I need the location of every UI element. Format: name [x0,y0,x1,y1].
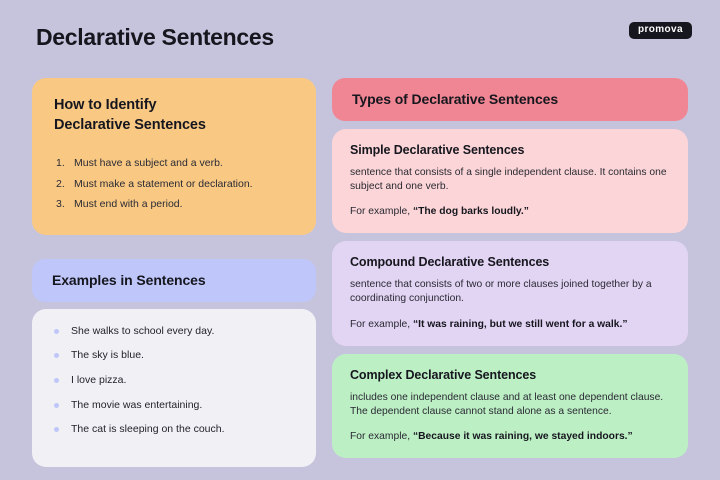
list-item-label: She walks to school every day. [71,325,214,337]
complex-declarative-heading: Complex Declarative Sentences [350,367,670,384]
how-to-identify-heading-line1: How to Identify [54,97,156,113]
examples-list: She walks to school every day. The sky i… [52,325,296,436]
complex-declarative-card: Complex Declarative Sentences includes o… [332,354,688,458]
compound-declarative-card: Compound Declarative Sentences sentence … [332,241,688,345]
compound-declarative-example: For example, “It was raining, but we sti… [350,318,670,332]
list-item-label: The cat is sleeping on the couch. [71,423,225,435]
list-item-label: I love pizza. [71,374,126,386]
promova-logo: promova [629,22,692,39]
bullet-dot-icon [54,378,59,383]
complex-declarative-example: For example, “Because it was raining, we… [350,430,670,444]
example-prefix: For example, [350,206,413,217]
simple-declarative-heading: Simple Declarative Sentences [350,142,670,159]
example-quote: “It was raining, but we still went for a… [413,319,628,330]
types-of-declarative-sentences-header: Types of Declarative Sentences [332,78,688,121]
list-item: I love pizza. [52,374,296,387]
types-header-label: Types of Declarative Sentences [352,90,668,109]
list-item: She walks to school every day. [52,325,296,338]
list-item: Must end with a period. [54,198,294,211]
examples-in-sentences-heading: Examples in Sentences [52,271,296,290]
how-to-identify-card: How to Identify Declarative Sentences Mu… [32,78,316,235]
list-item: The sky is blue. [52,349,296,362]
list-item: Must have a subject and a verb. [54,157,294,170]
page-title: Declarative Sentences [36,24,274,51]
simple-declarative-body: sentence that consists of a single indep… [350,166,670,194]
bullet-dot-icon [54,353,59,358]
complex-declarative-body: includes one independent clause and at l… [350,391,670,419]
list-item: The cat is sleeping on the couch. [52,423,296,436]
how-to-identify-heading-line2: Declarative Sentences [54,117,206,133]
list-item-label: The sky is blue. [71,349,144,361]
example-prefix: For example, [350,431,413,442]
list-item: Must make a statement or declaration. [54,178,294,191]
bullet-dot-icon [54,329,59,334]
examples-in-sentences-header: Examples in Sentences [32,259,316,302]
simple-declarative-card: Simple Declarative Sentences sentence th… [332,129,688,233]
bullet-dot-icon [54,427,59,432]
how-to-identify-heading: How to Identify Declarative Sentences [54,96,294,135]
example-quote: “The dog barks loudly.” [413,206,529,217]
list-item-label: The movie was entertaining. [71,399,202,411]
compound-declarative-body: sentence that consists of two or more cl… [350,278,670,306]
simple-declarative-example: For example, “The dog barks loudly.” [350,205,670,219]
identify-rules-list: Must have a subject and a verb. Must mak… [54,157,294,211]
list-item: The movie was entertaining. [52,399,296,412]
right-column: Types of Declarative Sentences Simple De… [332,78,688,458]
examples-in-sentences-card: She walks to school every day. The sky i… [32,309,316,467]
compound-declarative-heading: Compound Declarative Sentences [350,254,670,271]
example-prefix: For example, [350,319,413,330]
example-quote: “Because it was raining, we stayed indoo… [413,431,633,442]
bullet-dot-icon [54,403,59,408]
left-column: How to Identify Declarative Sentences Mu… [32,78,316,467]
